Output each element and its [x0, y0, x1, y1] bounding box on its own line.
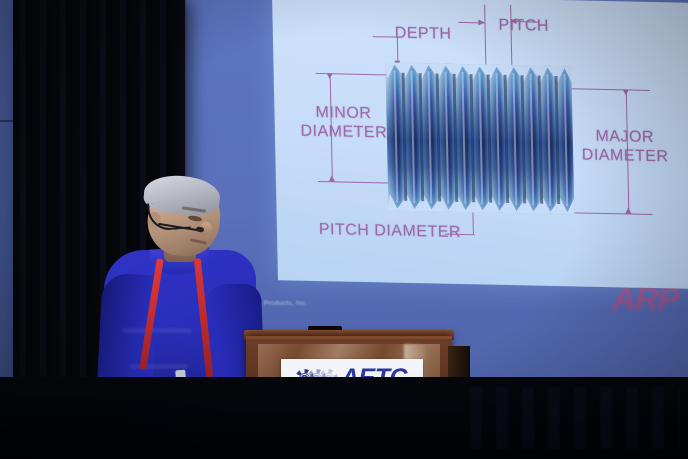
label-minor-line1: MINOR: [288, 102, 398, 123]
headset-microphone-capsule: [196, 226, 205, 232]
minor-arrow-down-icon: [326, 73, 332, 79]
label-major-diameter: MAJOR DIAMETER: [567, 126, 684, 166]
major-arrow-up-icon: [625, 207, 631, 213]
label-major-line1: MAJOR: [567, 126, 683, 147]
major-arrow-down-icon: [622, 89, 628, 95]
label-depth: DEPTH: [395, 25, 452, 44]
label-major-line2: DIAMETER: [567, 145, 683, 166]
minor-arrow-up-icon: [328, 175, 334, 181]
label-pitch-diameter: PITCH DIAMETER: [319, 221, 461, 242]
floor-seating-silhouette: [470, 387, 680, 449]
pitch-arrow-right-icon: [478, 19, 484, 25]
label-minor-diameter: MINOR DIAMETER: [288, 102, 399, 142]
label-minor-line2: DIAMETER: [289, 121, 399, 142]
pitch-extension-line-b: [510, 5, 513, 71]
slide-thread-terminology: DEPTH PITCH MINOR DIAMETER MAJOR DIAMETE…: [272, 0, 688, 289]
presentation-photo-scene: ARP: [0, 0, 688, 459]
shirt-crease: [122, 328, 192, 333]
threaded-rod-graphic: [385, 62, 574, 214]
pitch-extension-line-a: [484, 4, 487, 70]
label-pitch: PITCH: [498, 17, 549, 36]
rod-thread-profile: [385, 62, 574, 214]
projection-screen: DEPTH PITCH MINOR DIAMETER MAJOR DIAMETE…: [272, 0, 688, 289]
